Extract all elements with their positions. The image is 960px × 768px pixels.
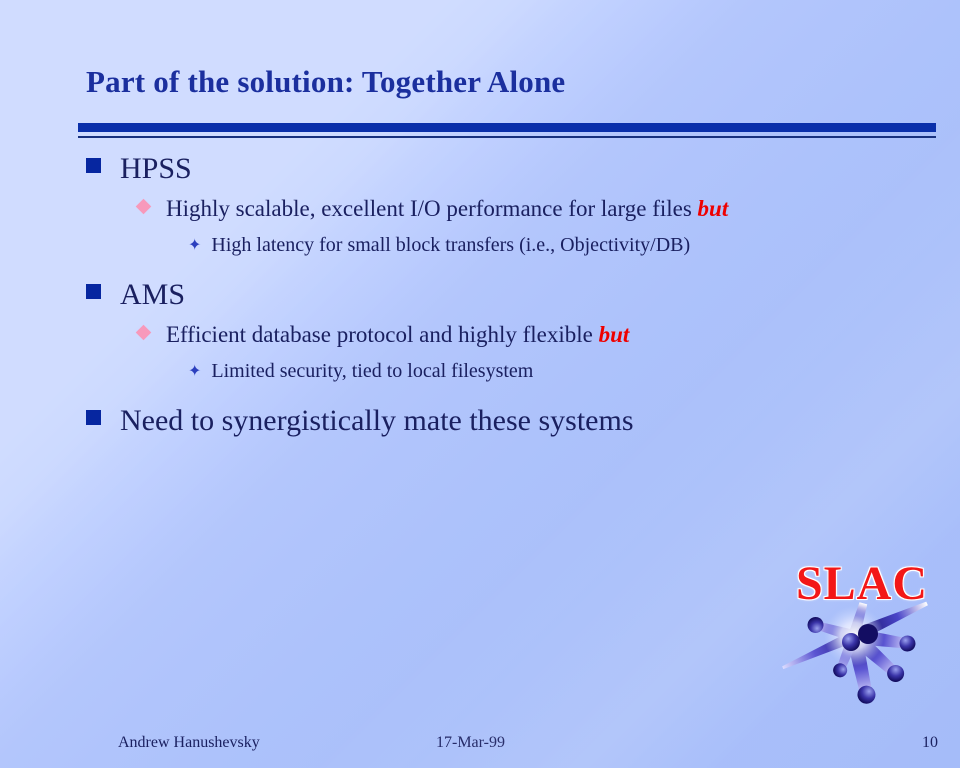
- title-rule-thin: [78, 136, 936, 138]
- bullet-text: HPSS: [120, 152, 192, 186]
- presentation-slide: Part of the solution: Together Alone HPS…: [0, 0, 960, 768]
- bullet-item-level3: ✦ Limited security, tied to local filesy…: [0, 360, 960, 396]
- bullet-item-level3: ✦ High latency for small block transfers…: [0, 234, 960, 270]
- square-bullet-icon: [86, 410, 101, 425]
- footer-page-number: 10: [922, 734, 938, 752]
- bullet-item-level1: Need to synergistically mate these syste…: [0, 404, 960, 448]
- bullet-text: AMS: [120, 278, 185, 312]
- bullet-text-main: Efficient database protocol and highly f…: [166, 322, 599, 347]
- footer-date: 17-Mar-99: [436, 734, 505, 752]
- bullet-item-level2: Highly scalable, excellent I/O performan…: [0, 196, 960, 234]
- diamond-bullet-icon: [136, 199, 152, 215]
- diamond-bullet-icon: [136, 325, 152, 341]
- slac-logo-text: SLAC: [782, 556, 942, 611]
- title-rule-thick: [78, 123, 936, 132]
- bullet-text-emphasis: but: [698, 196, 729, 221]
- bullet-text-main: Highly scalable, excellent I/O performan…: [166, 196, 698, 221]
- bullet-text: Efficient database protocol and highly f…: [166, 322, 629, 348]
- bullet-text-emphasis: but: [599, 322, 630, 347]
- bullet-text: Highly scalable, excellent I/O performan…: [166, 196, 728, 222]
- square-bullet-icon: [86, 284, 101, 299]
- bullet-item-level1: HPSS: [0, 152, 960, 196]
- bullet-text: Limited security, tied to local filesyst…: [211, 360, 533, 383]
- square-bullet-icon: [86, 158, 101, 173]
- bullet-item-level1: AMS: [0, 278, 960, 322]
- bullet-text: High latency for small block transfers (…: [211, 234, 690, 257]
- slide-title: Part of the solution: Together Alone: [86, 64, 565, 100]
- slide-footer: Andrew Hanushevsky 17-Mar-99 10: [0, 734, 960, 756]
- footer-author: Andrew Hanushevsky: [118, 734, 260, 752]
- bullet-text: Need to synergistically mate these syste…: [120, 404, 634, 438]
- slac-logo: SLAC: [776, 552, 948, 720]
- bullet-list: HPSS Highly scalable, excellent I/O perf…: [0, 152, 960, 448]
- star-bullet-icon: ✦: [188, 238, 201, 254]
- bullet-item-level2: Efficient database protocol and highly f…: [0, 322, 960, 360]
- star-bullet-icon: ✦: [188, 364, 201, 380]
